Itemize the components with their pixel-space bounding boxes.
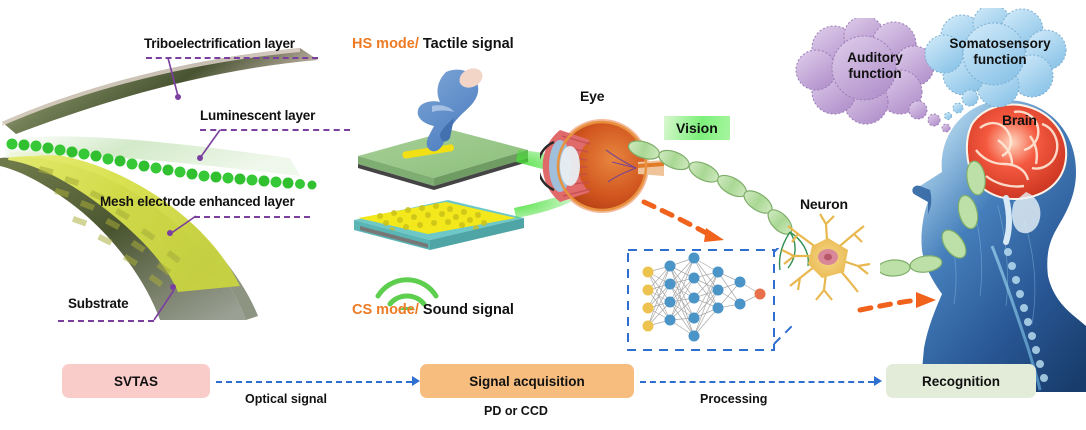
flow-arrowhead-processing <box>874 376 882 386</box>
layer-label-mesh-electrode: Mesh electrode enhanced layer <box>100 194 295 209</box>
mode-text-tactile: Tactile signal <box>423 36 514 52</box>
flow-box-signal-acquisition[interactable]: Signal acquisition <box>420 364 634 398</box>
leader-dot-luminescent <box>197 155 203 161</box>
bubble-somatosensory-line1: Somatosensory <box>924 36 1076 52</box>
flow-arrowhead-optical <box>412 376 420 386</box>
flow-caption-pd-or-ccd: PD or CCD <box>484 404 548 418</box>
bubble-text-somatosensory: Somatosensory function <box>924 36 1076 67</box>
vision-badge: Vision <box>664 116 730 140</box>
flow-caption-processing: Processing <box>700 392 767 406</box>
mode-label-tactile: HS mode/ Tactile signal <box>352 36 514 52</box>
leader-dot-mesh-electrode <box>167 230 173 236</box>
leader-dot-triboelectrification <box>175 94 181 100</box>
flow-box-recognition[interactable]: Recognition <box>886 364 1036 398</box>
leader-dot-substrate <box>170 284 176 290</box>
neural-network-inset <box>626 248 792 356</box>
layer-underline-substrate <box>58 320 154 322</box>
layer-label-luminescent: Luminescent layer <box>200 108 315 123</box>
mode-prefix-hs: HS mode/ <box>352 36 419 52</box>
leader-line-mesh-electrode <box>166 214 200 240</box>
bubble-somatosensory-line2: function <box>924 52 1076 68</box>
mode-text-sound: Sound signal <box>423 302 514 318</box>
flow-arrow-optical <box>216 381 412 383</box>
mode-label-sound: CS mode/ Sound signal <box>352 302 514 318</box>
layer-label-substrate: Substrate <box>68 296 128 311</box>
leader-line-substrate <box>150 286 182 324</box>
leader-line-triboelectrification <box>166 56 212 102</box>
figure-canvas: Triboelectrification layer Luminescent l… <box>0 0 1086 430</box>
layer-label-triboelectrification: Triboelectrification layer <box>144 36 295 51</box>
flow-caption-optical-signal: Optical signal <box>245 392 327 406</box>
flow-box-svtas[interactable]: SVTAS <box>62 364 210 398</box>
mode-prefix-cs: CS mode/ <box>352 302 419 318</box>
eye-label: Eye <box>580 88 604 104</box>
layer-underline-mesh-electrode <box>194 216 310 218</box>
flow-arrow-processing <box>640 381 874 383</box>
